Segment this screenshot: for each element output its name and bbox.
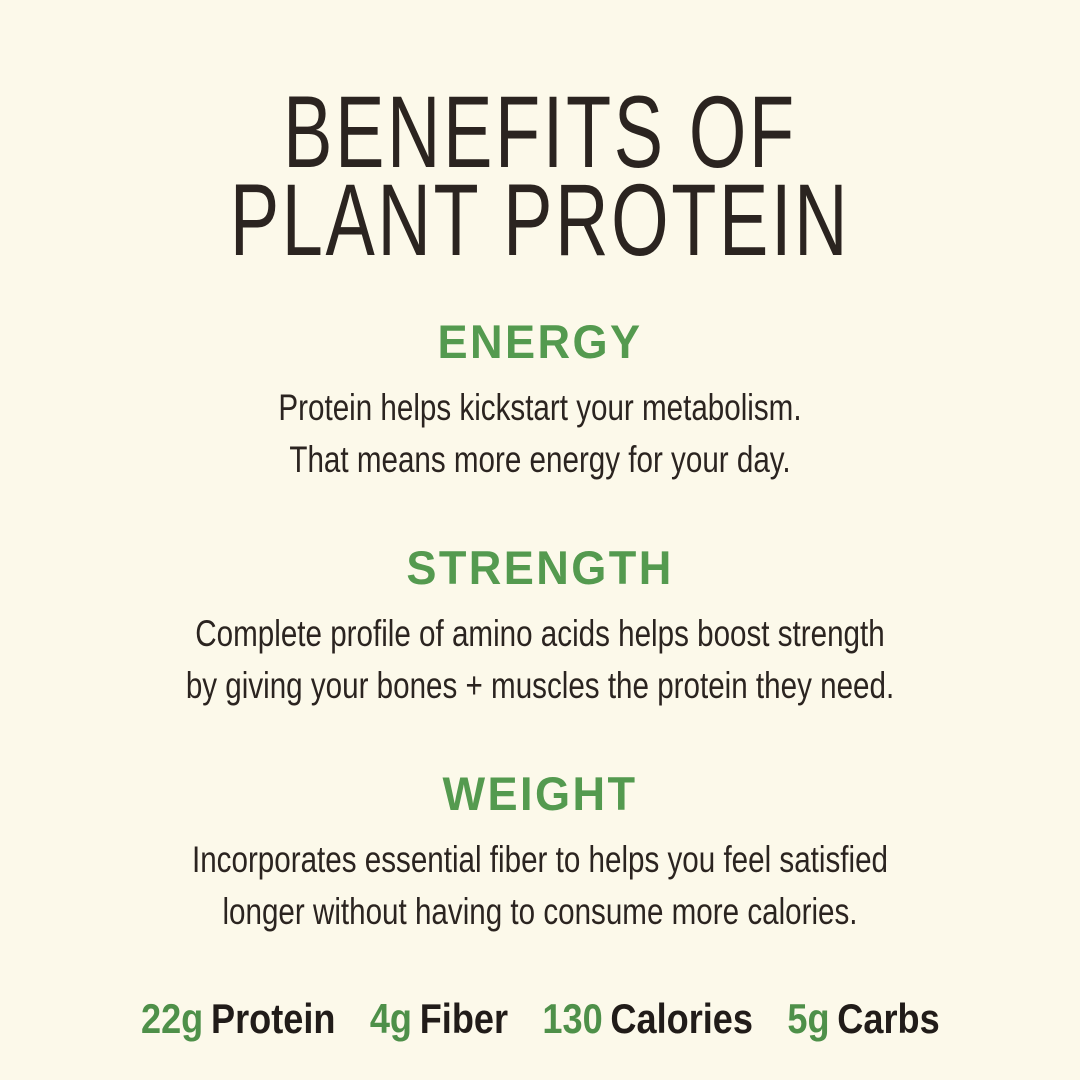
section-heading-energy: ENERGY (22, 316, 1059, 368)
section-body-energy-line-2: That means more energy for your day. (108, 434, 972, 486)
nutrition-label-fiber: Fiber (419, 996, 507, 1042)
nutrition-item-fiber: 4g Fiber (369, 996, 507, 1042)
nutrition-item-calories: 130 Calories (542, 996, 753, 1042)
benefit-sections: ENERGY Protein helps kickstart your meta… (0, 254, 1080, 938)
nutrition-label-carbs: Carbs (837, 996, 939, 1042)
section-heading-strength: STRENGTH (22, 542, 1059, 594)
nutrition-value-fiber: 4g (369, 996, 411, 1042)
nutrition-facts-row: 22g Protein 4g Fiber 130 Calories 5g Car… (141, 996, 940, 1042)
section-body-strength-line-1: Complete profile of amino acids helps bo… (108, 608, 972, 660)
nutrition-value-carbs: 5g (787, 996, 829, 1042)
nutrition-label-calories: Calories (610, 996, 753, 1042)
benefit-section-weight: WEIGHT Incorporates essential fiber to h… (0, 768, 1080, 938)
section-heading-weight: WEIGHT (22, 768, 1059, 820)
page-title-line-2: PLANT PROTEIN (65, 166, 1015, 273)
nutrition-item-carbs: 5g Carbs (787, 996, 939, 1042)
section-body-strength: Complete profile of amino acids helps bo… (108, 608, 972, 712)
nutrition-item-protein: 22g Protein (141, 996, 335, 1042)
section-body-energy: Protein helps kickstart your metabolism.… (108, 382, 972, 486)
benefit-section-energy: ENERGY Protein helps kickstart your meta… (0, 316, 1080, 486)
section-body-weight: Incorporates essential fiber to helps yo… (108, 834, 972, 938)
page-title: BENEFITS OF PLANT PROTEIN (0, 78, 1080, 254)
nutrition-label-protein: Protein (211, 996, 335, 1042)
benefit-section-strength: STRENGTH Complete profile of amino acids… (0, 542, 1080, 712)
section-body-energy-line-1: Protein helps kickstart your metabolism. (108, 382, 972, 434)
nutrition-value-protein: 22g (141, 996, 203, 1042)
section-body-weight-line-2: longer without having to consume more ca… (108, 886, 972, 938)
section-body-strength-line-2: by giving your bones + muscles the prote… (108, 660, 972, 712)
infographic-poster: BENEFITS OF PLANT PROTEIN ENERGY Protein… (0, 0, 1080, 1080)
nutrition-value-calories: 130 (542, 996, 602, 1042)
section-body-weight-line-1: Incorporates essential fiber to helps yo… (108, 834, 972, 886)
